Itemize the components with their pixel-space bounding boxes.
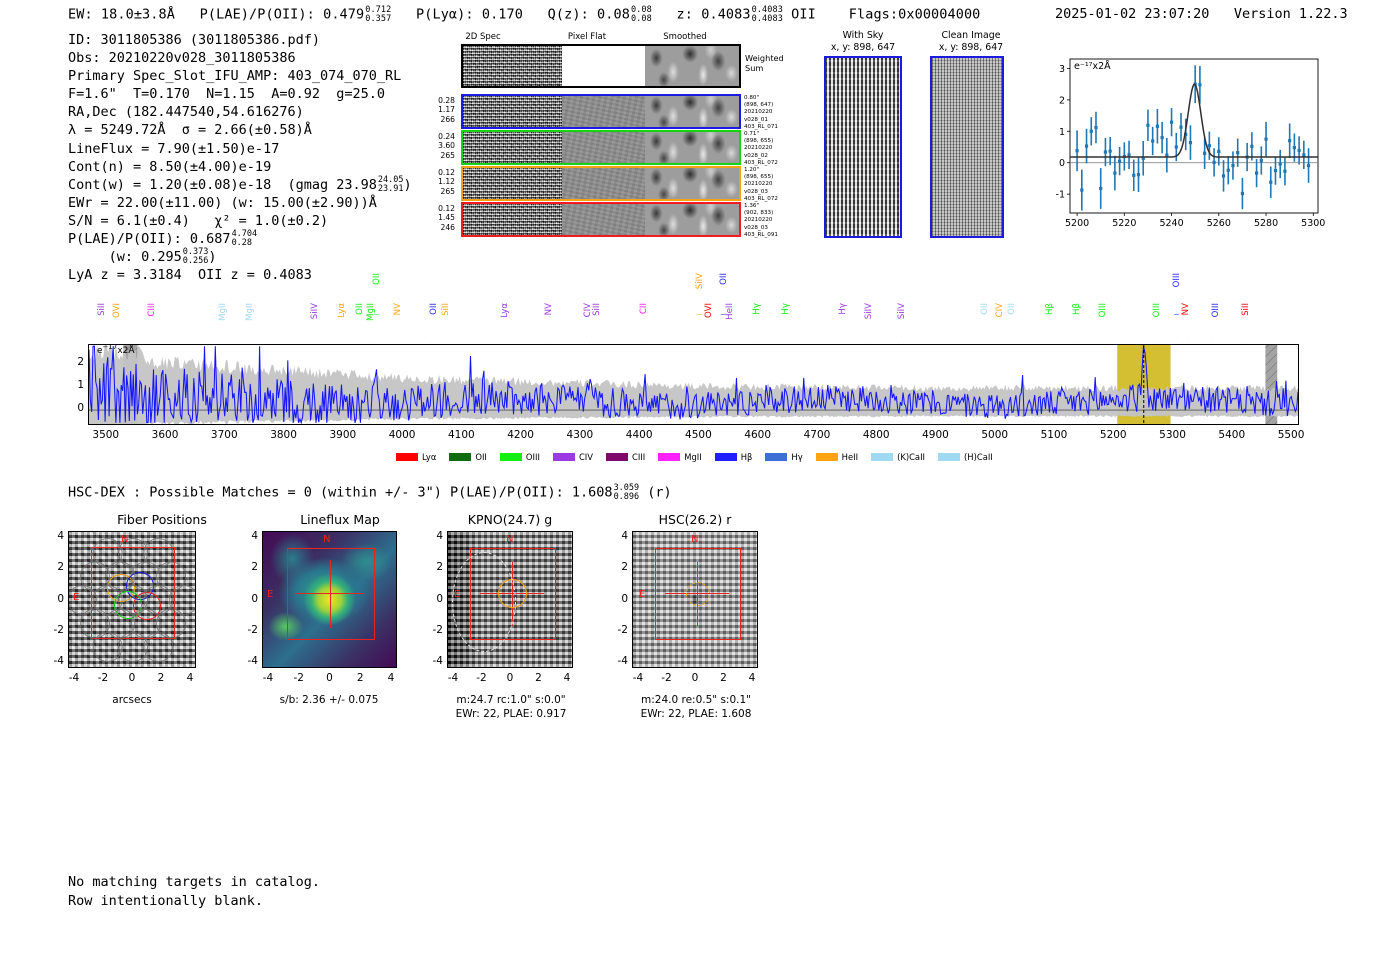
bottom-x-tick: -2	[287, 672, 311, 684]
bottom-y-tick: 2	[608, 561, 628, 573]
bottom-y-tick: -2	[238, 624, 258, 636]
compass-north-fiber: N	[121, 534, 128, 545]
bottom-y-tick: 2	[423, 561, 443, 573]
bottom-y-tick: 0	[608, 593, 628, 605]
caption-fiber-positions: arcsecs	[68, 694, 196, 708]
footnote-line-1: No matching targets in catalog.	[68, 873, 320, 892]
bottom-x-tick: 0	[318, 672, 342, 684]
bottom-x-tick: -4	[62, 672, 86, 684]
bottom-x-tick: -4	[256, 672, 280, 684]
bottom-y-tick: 4	[238, 530, 258, 542]
bottom-y-tick: 2	[238, 561, 258, 573]
bottom-x-tick: 0	[498, 672, 522, 684]
bottom-x-tick: -4	[626, 672, 650, 684]
bottom-y-tick: 0	[423, 593, 443, 605]
bottom-x-tick: 2	[348, 672, 372, 684]
hsc-aperture-circle	[686, 582, 710, 606]
bottom-x-tick: 2	[712, 672, 736, 684]
fiber-positions-image[interactable]: N E	[68, 531, 196, 668]
bottom-y-tick: -2	[423, 624, 443, 636]
panel-title-hsc: HSC(26.2) r	[595, 512, 795, 527]
bottom-x-tick: -2	[655, 672, 679, 684]
compass-east-lineflux: E	[267, 589, 273, 600]
bottom-y-tick: -4	[608, 655, 628, 667]
bottom-x-tick: 4	[178, 672, 202, 684]
panel-title-kpno: KPNO(24.7) g	[410, 512, 610, 527]
bottom-y-tick: -4	[44, 655, 64, 667]
kpno-image[interactable]: N E	[447, 531, 573, 668]
bottom-y-tick: 0	[238, 593, 258, 605]
compass-east-fiber: E	[73, 592, 79, 603]
bottom-x-tick: 4	[740, 672, 764, 684]
lineflux-map-image[interactable]: N E	[262, 531, 397, 668]
bottom-x-tick: 0	[683, 672, 707, 684]
bottom-x-tick: -4	[441, 672, 465, 684]
bottom-x-tick: 4	[379, 672, 403, 684]
bottom-y-tick: -2	[608, 624, 628, 636]
bottom-x-tick: 2	[149, 672, 173, 684]
compass-north-hsc: N	[691, 534, 698, 545]
bottom-y-tick: 2	[44, 561, 64, 573]
bottom-y-tick: -4	[423, 655, 443, 667]
compass-north-lineflux: N	[323, 534, 330, 545]
footnote-block: No matching targets in catalog. Row inte…	[68, 873, 320, 910]
bottom-y-tick: 4	[608, 530, 628, 542]
bottom-x-tick: 4	[555, 672, 579, 684]
bottom-y-tick: -4	[238, 655, 258, 667]
panel-title-fiber-positions: Fiber Positions	[62, 512, 262, 527]
compass-north-kpno: N	[506, 534, 513, 545]
caption-hsc: m:24.0 re:0.5" s:0.1"EWr: 22, PLAE: 1.60…	[622, 694, 770, 721]
lineflux-crosshair-h	[296, 593, 364, 594]
bottom-x-tick: -2	[91, 672, 115, 684]
bottom-x-tick: 2	[527, 672, 551, 684]
fiber-grid-overlay	[69, 532, 196, 668]
bottom-cutout-panels: Fiber Positions N E arcsecs Lineflux Map…	[0, 0, 1400, 953]
bottom-y-tick: 0	[44, 593, 64, 605]
compass-east-kpno: E	[454, 589, 460, 600]
footnote-line-2: Row intentionally blank.	[68, 892, 320, 911]
caption-kpno: m:24.7 rc:1.0" s:0.0"EWr: 22, PLAE: 0.91…	[437, 694, 585, 721]
bottom-x-tick: 0	[120, 672, 144, 684]
kpno-mask-ellipse	[452, 552, 516, 652]
compass-east-hsc: E	[639, 589, 645, 600]
caption-lineflux-map: s/b: 2.36 +/- 0.075	[258, 694, 400, 708]
bottom-y-tick: -2	[44, 624, 64, 636]
hsc-image[interactable]: N E	[632, 531, 758, 668]
bottom-x-tick: -2	[470, 672, 494, 684]
bottom-y-tick: 4	[44, 530, 64, 542]
bottom-y-tick: 4	[423, 530, 443, 542]
